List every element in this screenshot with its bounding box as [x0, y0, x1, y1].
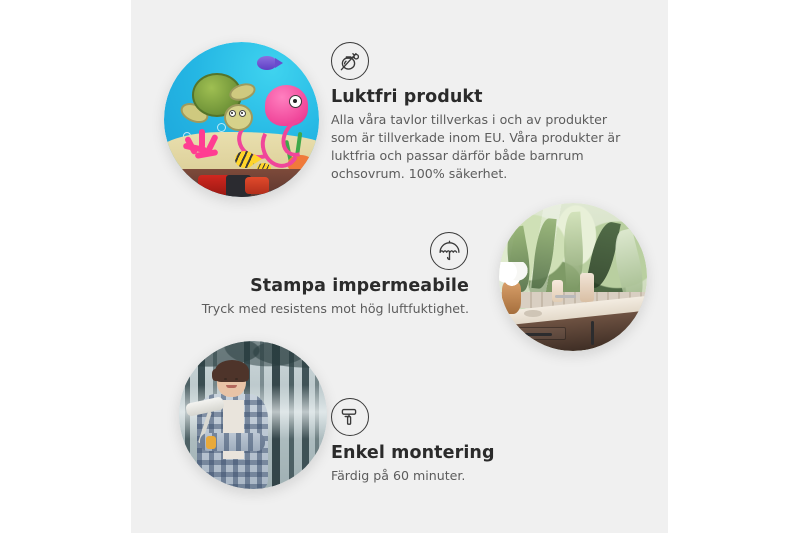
- feature-odour-free: Luktfri produkt Alla våra tavlor tillver…: [331, 42, 631, 183]
- feature-title: Stampa impermeabile: [190, 276, 469, 296]
- feature-title: Luktfri produkt: [331, 87, 631, 107]
- woman-with-paint-roller-photo: [179, 341, 327, 489]
- feature-title: Enkel montering: [331, 443, 591, 463]
- octopus-eye: [289, 95, 302, 108]
- tool-grip: [206, 436, 216, 449]
- no-fragrance-icon: [331, 42, 369, 80]
- umbrella-icon: [430, 232, 468, 270]
- soap-dish: [524, 310, 542, 317]
- feature-easy-mounting: Enkel montering Färdig på 60 minuter.: [331, 398, 591, 485]
- bathroom-botanical-wallpaper-photo: [499, 203, 647, 351]
- feature-waterproof-print: Stampa impermeabile Tryck med resistens …: [190, 232, 469, 318]
- woman-hair: [215, 360, 249, 382]
- bathroom-bottle: [552, 280, 562, 302]
- feature-body: Färdig på 60 minuter.: [331, 467, 591, 485]
- underwater-cartoon-mural-photo: [164, 42, 319, 197]
- yellow-fish-icon: [235, 151, 255, 168]
- feature-body: Tryck med resistens mot hög luftfuktighe…: [190, 300, 469, 318]
- infographic-canvas: Luktfri produkt Alla våra tavlor tillver…: [0, 0, 800, 533]
- purple-fish-icon: [257, 56, 277, 70]
- cabinet-handle: [591, 321, 594, 345]
- white-flowers: [499, 262, 529, 286]
- faucet: [555, 295, 576, 298]
- drawer-handle: [520, 333, 553, 336]
- photo-bottom-strip-detail: [245, 177, 270, 194]
- vase: [502, 281, 521, 314]
- feature-body: Alla våra tavlor tillverkas i och av pro…: [331, 111, 626, 183]
- coral-icon: [181, 129, 221, 163]
- bathroom-bottle: [580, 273, 593, 303]
- forest-canopy: [179, 341, 327, 388]
- paint-roller-icon: [331, 398, 369, 436]
